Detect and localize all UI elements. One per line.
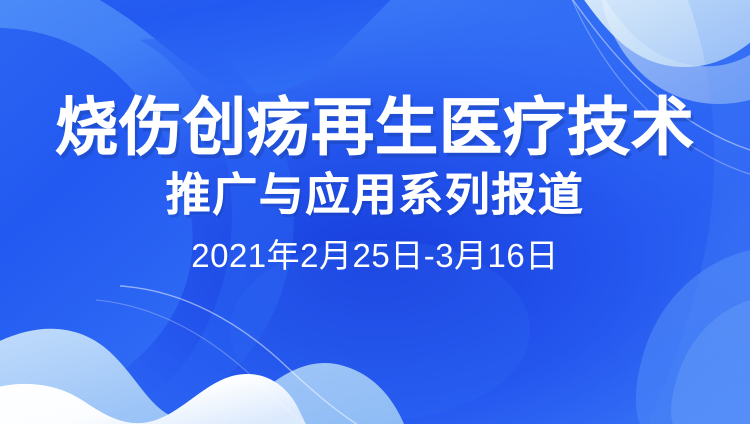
page-subtitle: 推广与应用系列报道 [166,172,585,217]
promo-banner: 烧伤创疡再生医疗技术 推广与应用系列报道 2021年2月25日-3月16日 [0,0,750,424]
date-range: 2021年2月25日-3月16日 [191,239,559,272]
page-title: 烧伤创疡再生医疗技术 [55,97,695,160]
banner-content: 烧伤创疡再生医疗技术 推广与应用系列报道 2021年2月25日-3月16日 [0,0,750,424]
